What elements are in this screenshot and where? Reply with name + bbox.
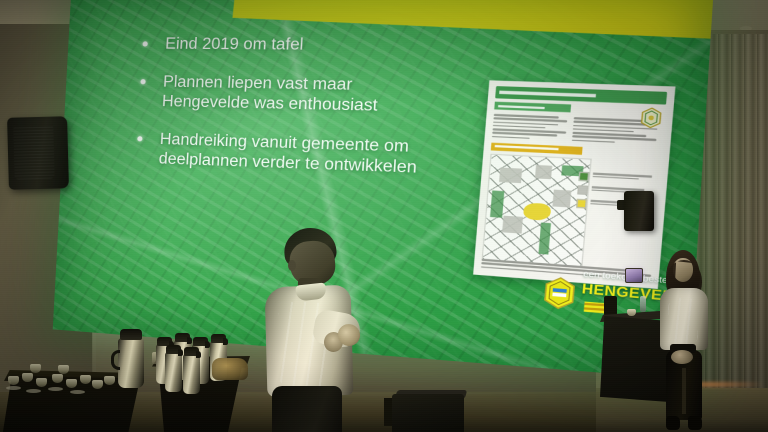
wall-speaker-left-icon — [7, 116, 69, 190]
attendee-person — [658, 250, 710, 432]
presenter-person — [252, 228, 364, 432]
poster-seal-icon — [639, 107, 663, 129]
slide-bullet-list: Eind 2019 om tafel Plannen liepen vast m… — [131, 34, 507, 200]
slide-poster-thumbnail — [473, 80, 675, 289]
side-table-speaker — [604, 296, 617, 316]
attendee-blouse-folds — [668, 298, 698, 346]
coffee-carafe — [183, 354, 200, 394]
conference-room-photo: EERSTE IDEEËN Eind 2019 om tafel Plannen… — [0, 0, 768, 432]
coffee-carafe — [165, 352, 182, 392]
wall-control-panel[interactable] — [625, 268, 643, 283]
presenter-trousers — [272, 386, 342, 432]
bullet-1-line-1: Eind 2019 om tafel — [165, 34, 507, 57]
slide-bullet-2: Plannen liepen vast maar Hengevelde was … — [135, 71, 505, 119]
poster-highlight-bar — [491, 143, 583, 155]
presenter-ear — [288, 260, 296, 271]
poster-subtitle-bar — [494, 102, 571, 113]
side-table-bottle — [640, 296, 646, 312]
floor-speaker-icon — [392, 394, 464, 432]
wall-speaker-right-icon — [624, 191, 654, 231]
side-table-cup — [627, 309, 636, 316]
attendee-leg-gap — [682, 368, 686, 414]
hengevelde-shield-icon — [541, 275, 578, 310]
coffee-pot — [118, 338, 144, 388]
poster-column-left — [492, 114, 568, 143]
attendee-hands — [671, 350, 693, 364]
attendee-boot-right — [688, 416, 702, 430]
slide-bullet-1: Eind 2019 om tafel — [138, 34, 507, 57]
pastry-basket — [212, 358, 248, 380]
logo-stripe-mark — [584, 301, 606, 313]
cups-and-saucers — [4, 362, 122, 396]
slide-bullet-3: Handreiking vanuit gemeente om deelplann… — [132, 128, 501, 181]
attendee-boot-left — [666, 416, 680, 430]
bullet-2-line-2: Hengevelde was enthousiast — [161, 92, 503, 120]
